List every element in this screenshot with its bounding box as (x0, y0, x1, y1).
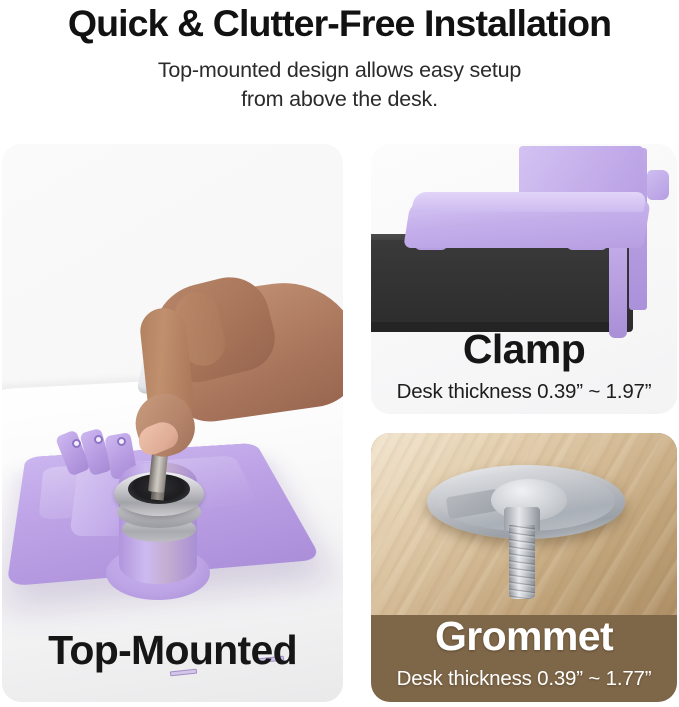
clamp-adjust-knob (647, 170, 669, 200)
page-subtitle-line-2: from above the desk. (0, 85, 679, 114)
card-title-top-mounted: Top-Mounted (2, 630, 343, 671)
clamp-top-pad-surface (411, 192, 646, 212)
card-title-clamp: Clamp (371, 329, 677, 370)
card-grommet: Grommet Desk thickness 0.39” ~ 1.77” (371, 433, 677, 702)
card-subtitle-grommet: Desk thickness 0.39” ~ 1.77” (371, 669, 677, 690)
cable-clip-hole (72, 439, 81, 448)
page-subtitle-line-1: Top-mounted design allows easy setup (0, 56, 679, 85)
cable-clip-hole (94, 435, 103, 444)
card-subtitle-clamp: Desk thickness 0.39” ~ 1.97” (371, 382, 677, 403)
grommet-bolt-threads (509, 525, 535, 599)
infographic-page: Quick & Clutter-Free Installation Top-mo… (0, 0, 679, 707)
grommet-illustration (371, 433, 677, 615)
clamp-illustration (371, 144, 677, 414)
card-title-grommet: Grommet (371, 616, 677, 657)
page-subtitle: Top-mounted design allows easy setup fro… (0, 56, 679, 114)
dark-desk-edge (371, 240, 633, 332)
page-title: Quick & Clutter-Free Installation (0, 0, 679, 46)
clamp-lower-jaw (609, 242, 627, 338)
card-top-mounted: Top-Mounted (2, 144, 343, 702)
hand-illustration (112, 282, 343, 462)
header: Quick & Clutter-Free Installation Top-mo… (0, 0, 679, 130)
card-clamp: Clamp Desk thickness 0.39” ~ 1.97” (371, 144, 677, 414)
